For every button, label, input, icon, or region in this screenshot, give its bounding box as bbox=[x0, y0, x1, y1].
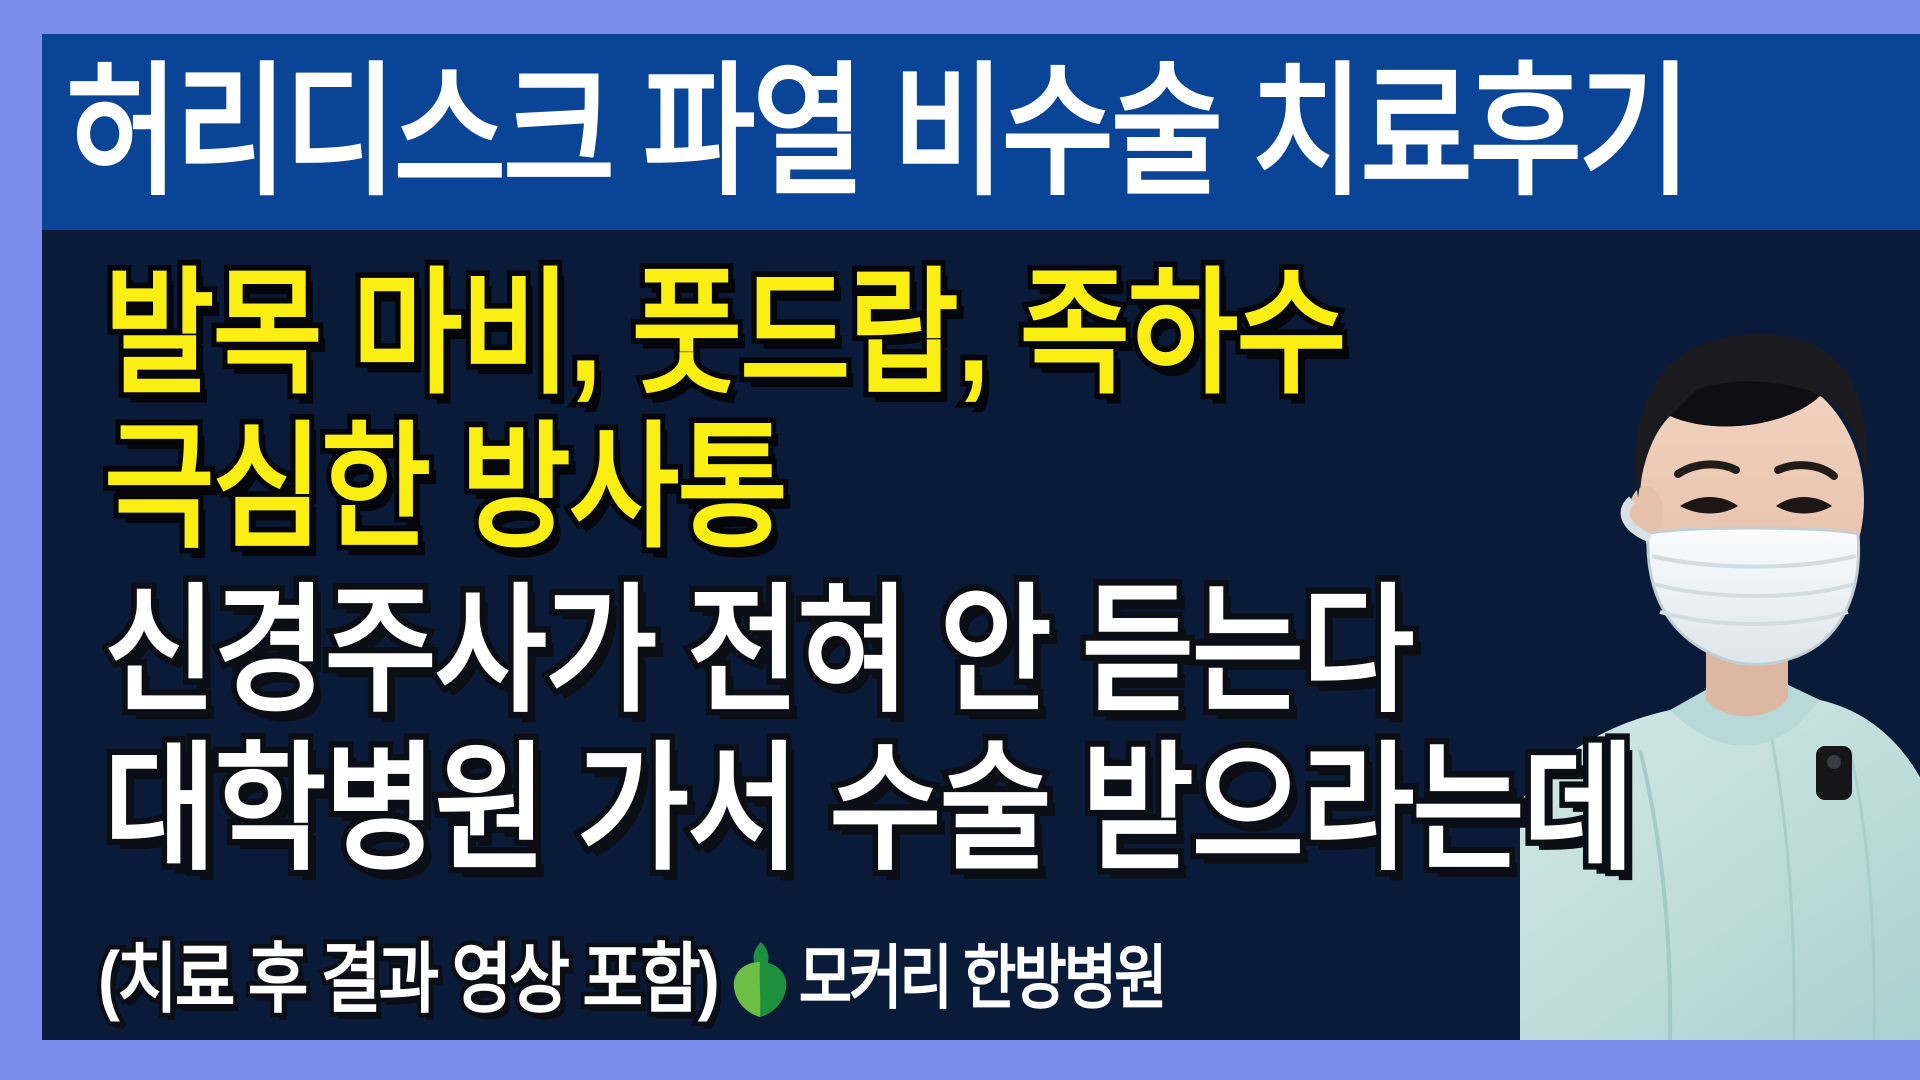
headline-line-4: 대학병원 가서 수술 받으라는데 bbox=[104, 739, 1633, 878]
caption-text: (치료 후 결과 영상 포함) bbox=[98, 941, 717, 1018]
brand-lockup: 모커리 한방병원 bbox=[731, 940, 1165, 1018]
patient-photo bbox=[1520, 230, 1920, 1040]
thumbnail-panel: 허리디스크 파열 비수술 치료후기 bbox=[42, 34, 1920, 1040]
headline-line-3: 신경주사가 전혀 안 듣는다 bbox=[104, 581, 1412, 720]
headline-line-2: 극심한 방사통 bbox=[104, 420, 786, 557]
green-leaf-icon bbox=[731, 940, 789, 1018]
brand-name: 모커리 한방병원 bbox=[799, 944, 1165, 1014]
patient-illustration bbox=[1520, 230, 1920, 1040]
headline-line-1: 발목 마비, 풋드랍, 족하수 bbox=[104, 266, 1345, 403]
footer-row: (치료 후 결과 영상 포함) 모커리 한방병원 bbox=[98, 940, 1164, 1018]
page-title: 허리디스크 파열 비수술 치료후기 bbox=[42, 60, 1688, 204]
header-band: 허리디스크 파열 비수술 치료후기 bbox=[42, 34, 1920, 230]
video-thumbnail: 허리디스크 파열 비수술 치료후기 bbox=[0, 0, 1920, 1080]
